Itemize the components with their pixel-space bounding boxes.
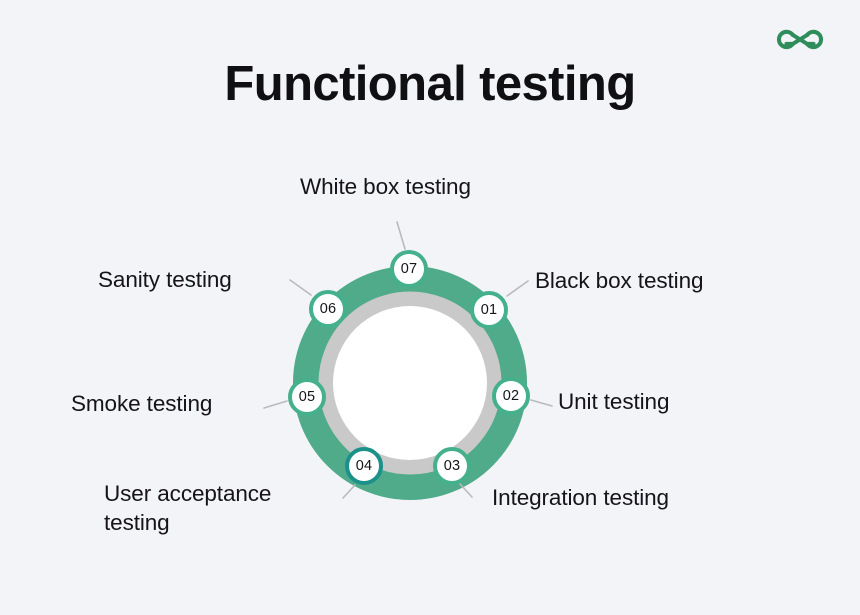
step-label-06: Sanity testing bbox=[98, 266, 232, 295]
step-label-01: Black box testing bbox=[535, 267, 703, 296]
leader-line-02 bbox=[531, 400, 552, 406]
step-label-02: Unit testing bbox=[558, 388, 669, 417]
step-badge-03[interactable]: 03 bbox=[433, 447, 471, 485]
step-badge-05[interactable]: 05 bbox=[288, 378, 326, 416]
leader-line-05 bbox=[264, 401, 287, 408]
leader-line-01 bbox=[507, 281, 528, 296]
step-badge-01[interactable]: 01 bbox=[470, 291, 508, 329]
leader-line-04 bbox=[343, 485, 355, 498]
leader-line-06 bbox=[290, 280, 311, 295]
ring-inner-hub bbox=[333, 306, 487, 460]
leader-line-03 bbox=[460, 484, 472, 497]
step-label-07: White box testing bbox=[300, 173, 471, 202]
step-badge-07[interactable]: 07 bbox=[390, 250, 428, 288]
functional-testing-ring-diagram: 01020304050607 Black box testingUnit tes… bbox=[0, 0, 860, 615]
step-badge-04[interactable]: 04 bbox=[345, 447, 383, 485]
step-label-03: Integration testing bbox=[492, 484, 669, 513]
poster-canvas: Functional testing 01020304050607 Black … bbox=[0, 0, 860, 615]
step-label-04: User acceptance testing bbox=[104, 480, 271, 538]
step-badge-06[interactable]: 06 bbox=[309, 290, 347, 328]
step-label-05: Smoke testing bbox=[71, 390, 212, 419]
leader-line-07 bbox=[397, 222, 405, 249]
step-badge-02[interactable]: 02 bbox=[492, 377, 530, 415]
